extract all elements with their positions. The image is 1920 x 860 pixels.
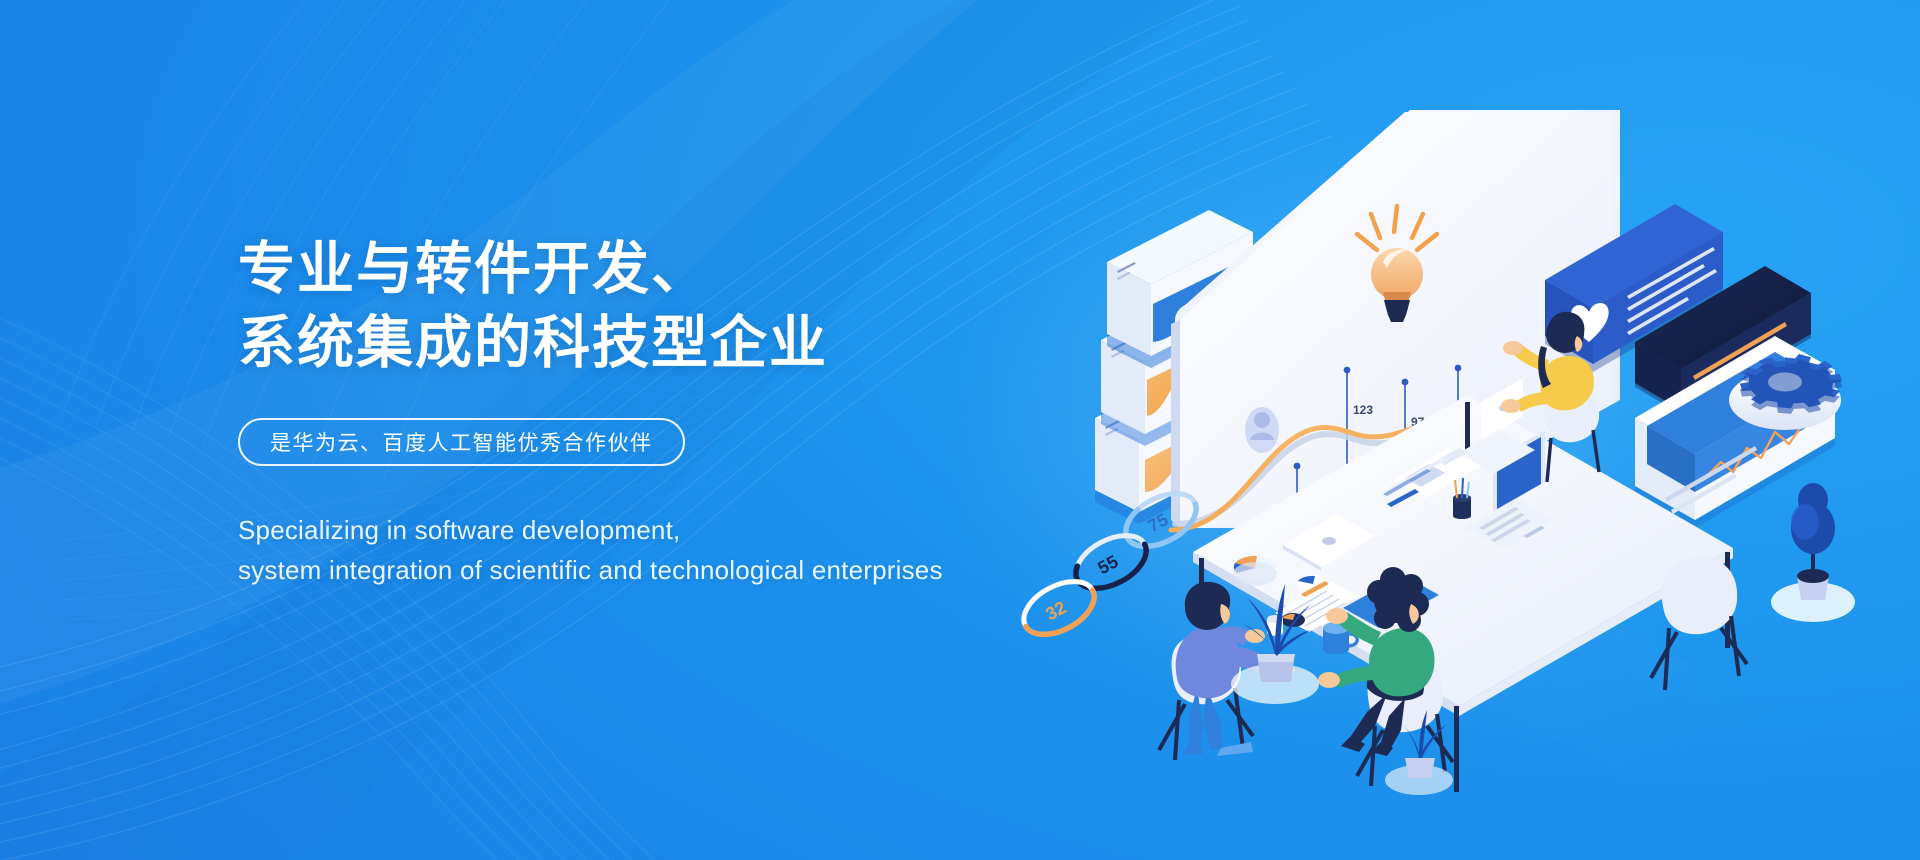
headline-line-1: 专业与转件开发、 <box>238 232 1178 306</box>
chart-label-123: 123 <box>1353 403 1373 417</box>
subtitle-line-1: Specializing in software development, <box>238 510 1178 550</box>
empty-chair <box>1651 558 1747 690</box>
hero-illustration: 65 123 97 81 <box>1075 100 1905 760</box>
pie-chart-icon <box>1233 556 1277 586</box>
partner-badge[interactable]: 是华为云、百度人工智能优秀合作伙伴 <box>238 418 685 466</box>
hero-subtitle: Specializing in software development, sy… <box>238 510 1178 590</box>
headline-line-2: 系统集成的科技型企业 <box>238 306 1178 380</box>
hero-copy: 专业与转件开发、 系统集成的科技型企业 是华为云、百度人工智能优秀合作伙伴 Sp… <box>238 232 1178 590</box>
page-title: 专业与转件开发、 系统集成的科技型企业 <box>238 232 1178 380</box>
subtitle-line-2: system integration of scientific and tec… <box>238 550 1178 590</box>
hero-banner: 专业与转件开发、 系统集成的科技型企业 是华为云、百度人工智能优秀合作伙伴 Sp… <box>0 0 1920 860</box>
topiary-icon <box>1771 483 1855 622</box>
gauge-value-32: 32 <box>1042 597 1069 624</box>
avatar <box>1245 407 1279 453</box>
pencil-cup-icon <box>1453 478 1471 519</box>
